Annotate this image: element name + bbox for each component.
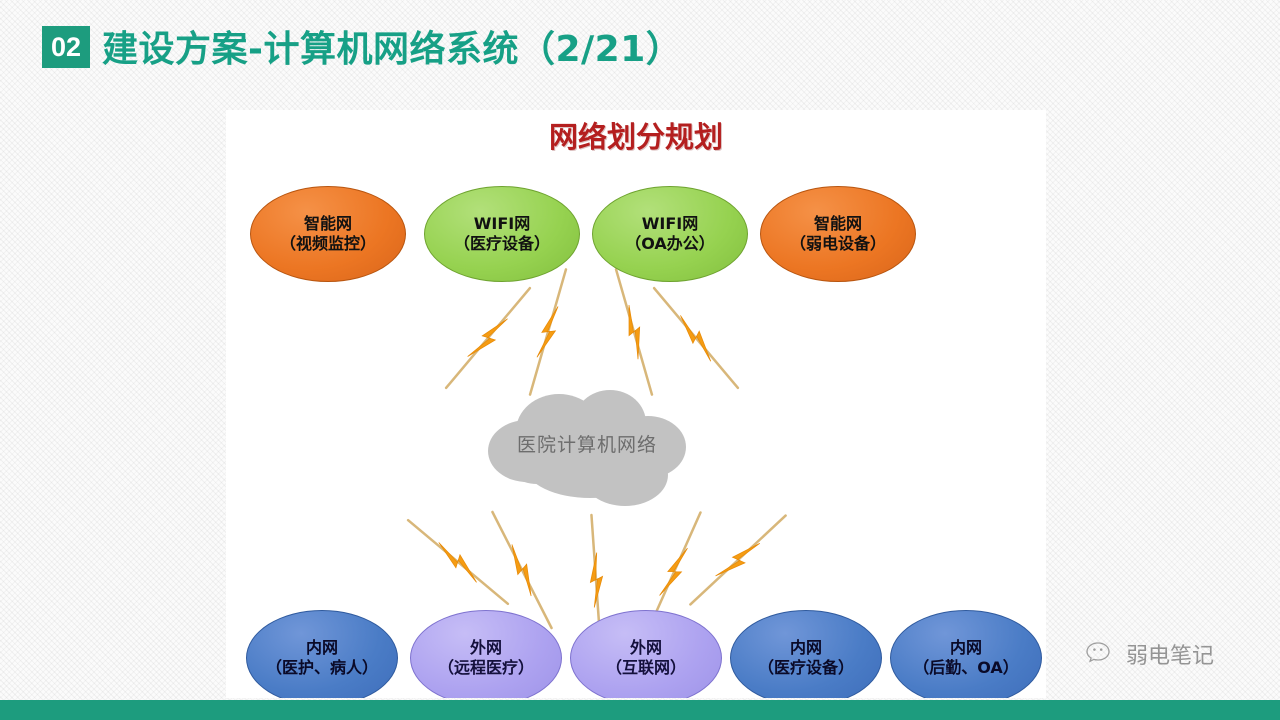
node-label-line2: （后勤、OA）: [913, 658, 1019, 678]
bolt-to-top-node-3: [611, 268, 659, 397]
node-label-line1: WIFI网: [474, 214, 531, 234]
node-label-line2: （医疗设备）: [758, 658, 854, 678]
node-label-line1: 内网: [306, 638, 338, 658]
bolt-to-bottom-node-5: [686, 511, 790, 609]
node-label-line2: （弱电设备）: [790, 234, 886, 254]
node-label-line2: （视频监控）: [280, 234, 376, 254]
watermark: 弱电笔记: [1086, 638, 1214, 670]
network-node-top-4[interactable]: 智能网 （弱电设备）: [760, 186, 916, 282]
node-label-line1: 内网: [950, 638, 982, 658]
watermark-text: 弱电笔记: [1126, 638, 1214, 670]
node-label-line1: 内网: [790, 638, 822, 658]
bolt-to-top-node-1: [442, 284, 535, 392]
bolt-to-top-node-4: [650, 284, 743, 392]
slide-header: 02 建设方案-计算机网络系统（2/21）: [0, 0, 1280, 95]
node-label-line2: （远程医疗）: [438, 658, 534, 678]
node-label-line1: 智能网: [814, 214, 862, 234]
node-label-line1: WIFI网: [642, 214, 699, 234]
node-label-line1: 外网: [630, 638, 662, 658]
page-title: 建设方案-计算机网络系统（2/21）: [102, 20, 682, 72]
network-node-top-3[interactable]: WIFI网 （OA办公）: [592, 186, 748, 282]
node-label-line2: （医护、病人）: [266, 658, 378, 678]
diagram-canvas: 网络划分规划: [226, 110, 1046, 698]
node-label-line1: 智能网: [304, 214, 352, 234]
wechat-icon: [1086, 640, 1118, 668]
network-node-bottom-2[interactable]: 外网 （远程医疗）: [410, 610, 562, 698]
node-label-line2: （医疗设备）: [454, 234, 550, 254]
cloud-label: 医院计算机网络: [482, 430, 692, 457]
network-node-top-1[interactable]: 智能网 （视频监控）: [250, 186, 406, 282]
node-label-line1: 外网: [470, 638, 502, 658]
node-label-line2: （互联网）: [606, 658, 686, 678]
network-node-bottom-3[interactable]: 外网 （互联网）: [570, 610, 722, 698]
network-node-top-2[interactable]: WIFI网 （医疗设备）: [424, 186, 580, 282]
footer-accent-bar: [0, 700, 1280, 720]
network-node-bottom-1[interactable]: 内网 （医护、病人）: [246, 610, 398, 698]
network-node-bottom-4[interactable]: 内网 （医疗设备）: [730, 610, 882, 698]
node-label-line2: （OA办公）: [625, 234, 715, 254]
cloud-node: 医院计算机网络: [482, 388, 692, 513]
bolt-to-bottom-node-1: [404, 515, 512, 608]
section-number-badge: 02: [42, 26, 90, 68]
bolt-to-top-node-2: [525, 268, 573, 397]
network-node-bottom-5[interactable]: 内网 （后勤、OA）: [890, 610, 1042, 698]
